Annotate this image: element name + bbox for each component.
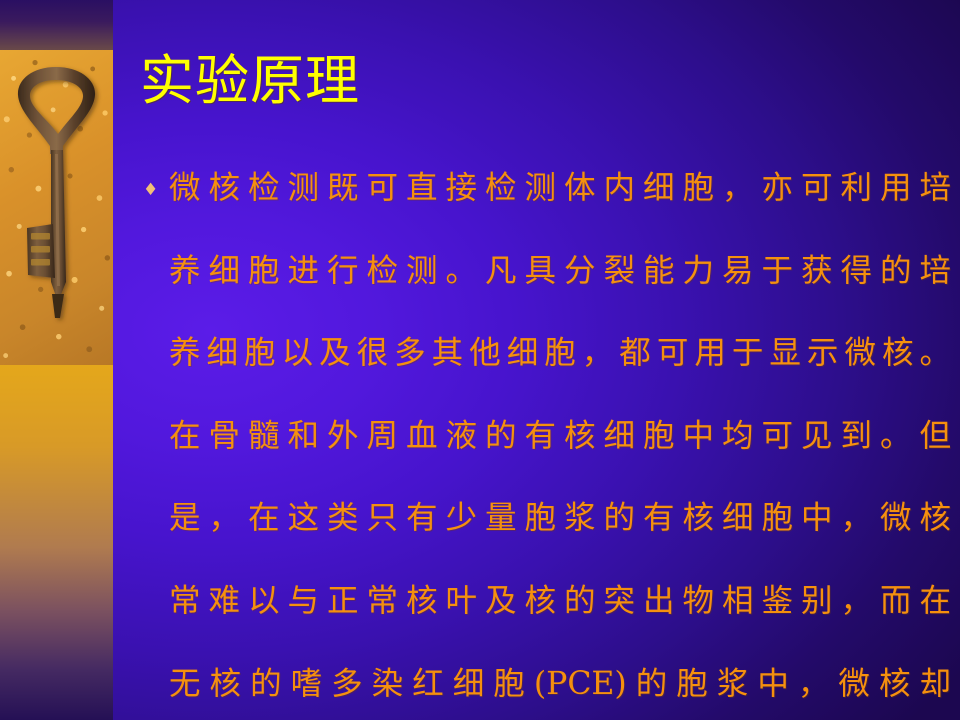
body-line: 微核检测既可直接检测体内细胞，亦可利用培 bbox=[169, 168, 951, 251]
body-line: 养细胞以及很多其他细胞，都可用于显示微核。 bbox=[169, 333, 951, 416]
slide-body: ♦ 微核检测既可直接检测体内细胞，亦可利用培 养细胞进行检测。凡具分裂能力易于获… bbox=[143, 168, 951, 720]
body-line: 在骨髓和外周血液的有核细胞中均可见到。但 bbox=[169, 416, 951, 499]
bullet-paragraph: 微核检测既可直接检测体内细胞，亦可利用培 养细胞进行检测。凡具分裂能力易于获得的… bbox=[169, 168, 951, 720]
body-line: 养细胞进行检测。凡具分裂能力易于获得的培 bbox=[169, 251, 951, 334]
diamond-bullet-icon: ♦ bbox=[143, 168, 169, 199]
body-line: 无核的嗜多染红细胞(PCE)的胞浆中，微核却 bbox=[169, 664, 951, 720]
body-line: 常难以与正常核叶及核的突出物相鉴别，而在 bbox=[169, 581, 951, 664]
slide-decoration-panel bbox=[0, 0, 113, 720]
presentation-slide: 实验原理 ♦ 微核检测既可直接检测体内细胞，亦可利用培 养细胞进行检测。凡具分裂… bbox=[0, 0, 960, 720]
slide-title: 实验原理 bbox=[140, 54, 900, 108]
bullet-item: ♦ 微核检测既可直接检测体内细胞，亦可利用培 养细胞进行检测。凡具分裂能力易于获… bbox=[143, 168, 951, 720]
old-key-icon bbox=[0, 50, 113, 365]
key-photo-image bbox=[0, 50, 113, 365]
body-line: 是，在这类只有少量胞浆的有核细胞中，微核 bbox=[169, 498, 951, 581]
